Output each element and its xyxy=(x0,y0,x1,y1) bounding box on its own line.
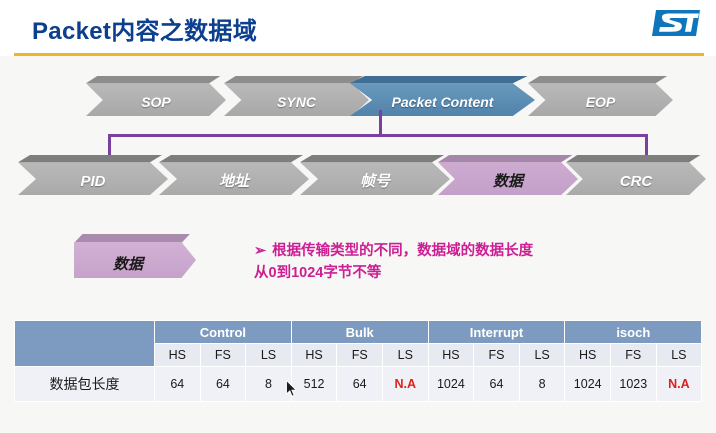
chevron-label: EOP xyxy=(528,95,673,109)
table-cell: 64 xyxy=(155,367,201,402)
connector-crossbar xyxy=(108,134,648,137)
slide-header: Packet内容之数据域 xyxy=(0,0,716,56)
speed-header: LS xyxy=(382,344,428,367)
chevron-label: CRC xyxy=(566,174,706,189)
chevron-label: 帧号 xyxy=(300,174,450,189)
callout-shape-label: 数据 xyxy=(74,253,182,274)
table-cell: 1023 xyxy=(611,367,657,402)
speed-header: FS xyxy=(474,344,520,367)
speed-header: HS xyxy=(565,344,611,367)
speed-header: HS xyxy=(291,344,337,367)
description-line-1: 根据传输类型的不同，数据域的数据长度 xyxy=(272,243,533,259)
group-header-control: Control xyxy=(155,321,292,344)
table-cell: 1024 xyxy=(565,367,611,402)
description-line-2: 从0到1024字节不等 xyxy=(254,265,381,281)
chevron-label: SOP xyxy=(86,95,226,109)
page-title: Packet内容之数据域 xyxy=(32,11,257,46)
table-cell: 512 xyxy=(291,367,337,402)
speed-header: FS xyxy=(337,344,383,367)
chevron-label: Packet Content xyxy=(350,95,535,109)
speed-header: LS xyxy=(519,344,565,367)
packet-structure-row-bottom: PID 地址 帧号 数据 CRC xyxy=(0,145,716,203)
table-cell: 64 xyxy=(474,367,520,402)
callout-top-face xyxy=(74,234,196,243)
bullet-arrow-icon: ➢ xyxy=(254,243,266,259)
table-group-header-row: Control Bulk Interrupt isoch xyxy=(15,321,702,344)
data-length-description: ➢根据传输类型的不同，数据域的数据长度 从0到1024字节不等 xyxy=(254,240,694,285)
chevron-crc[interactable]: CRC xyxy=(566,155,706,195)
title-divider xyxy=(14,53,704,56)
chevron-label: 数据 xyxy=(438,174,578,189)
speed-header: HS xyxy=(155,344,201,367)
connector-stem xyxy=(379,110,382,136)
packet-length-table: Control Bulk Interrupt isoch HS FS LS HS… xyxy=(14,320,702,402)
chevron-pid[interactable]: PID xyxy=(18,155,168,195)
table-cell: 8 xyxy=(519,367,565,402)
row-label-packet-length: 数据包长度 xyxy=(15,367,155,402)
table-corner-cell xyxy=(15,321,155,367)
group-header-bulk: Bulk xyxy=(291,321,428,344)
group-header-interrupt: Interrupt xyxy=(428,321,565,344)
speed-header: LS xyxy=(656,344,702,367)
table-cell: N.A xyxy=(382,367,428,402)
table-cell: 1024 xyxy=(428,367,474,402)
chevron-frame-number[interactable]: 帧号 xyxy=(300,155,450,195)
chevron-label: PID xyxy=(18,174,168,189)
table-row: 数据包长度 64 64 8 512 64 N.A 1024 64 8 1024 … xyxy=(15,367,702,402)
table-cell: N.A xyxy=(656,367,702,402)
chevron-label: 地址 xyxy=(159,174,309,189)
st-logo xyxy=(650,6,704,42)
group-header-isoch: isoch xyxy=(565,321,702,344)
chevron-label: SYNC xyxy=(224,95,369,109)
table-cell: 64 xyxy=(200,367,246,402)
table-cell: 64 xyxy=(337,367,383,402)
chevron-address[interactable]: 地址 xyxy=(159,155,309,195)
speed-header: HS xyxy=(428,344,474,367)
speed-header: LS xyxy=(246,344,292,367)
data-field-callout-shape: 数据 xyxy=(74,234,196,278)
chevron-data[interactable]: 数据 xyxy=(438,155,578,195)
table-cell: 8 xyxy=(246,367,292,402)
speed-header: FS xyxy=(200,344,246,367)
speed-header: FS xyxy=(611,344,657,367)
